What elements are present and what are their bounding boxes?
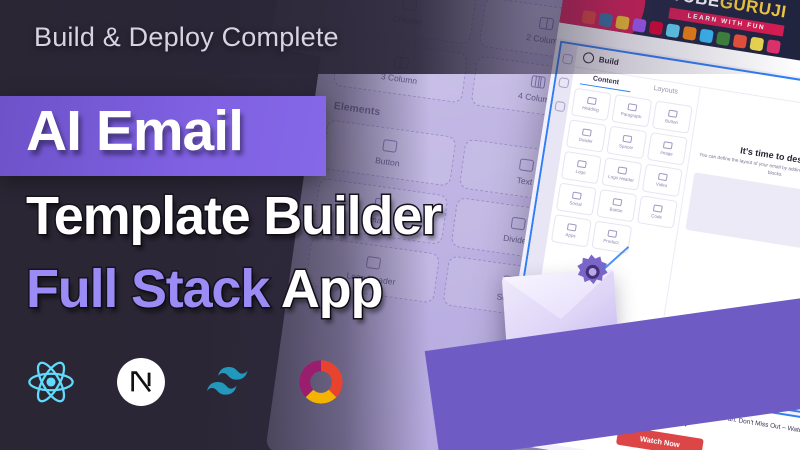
react-logo: [24, 355, 78, 409]
kicker-text: Build & Deploy Complete: [34, 22, 339, 53]
title-line-3-accent: Full Stack: [26, 259, 269, 319]
title-line-3: Full Stack App: [26, 262, 382, 316]
title-line-1: AI Email: [26, 103, 243, 160]
thumbnail-overlay: Build & Deploy Complete AI Email Templat…: [0, 0, 800, 450]
tech-logo-row: [24, 355, 348, 409]
title-line-3-plain: App: [269, 259, 382, 319]
tailwind-logo: [204, 355, 258, 409]
title-line-2: Template Builder: [26, 189, 441, 243]
nextjs-logo: [114, 355, 168, 409]
clerk-logo: [294, 355, 348, 409]
